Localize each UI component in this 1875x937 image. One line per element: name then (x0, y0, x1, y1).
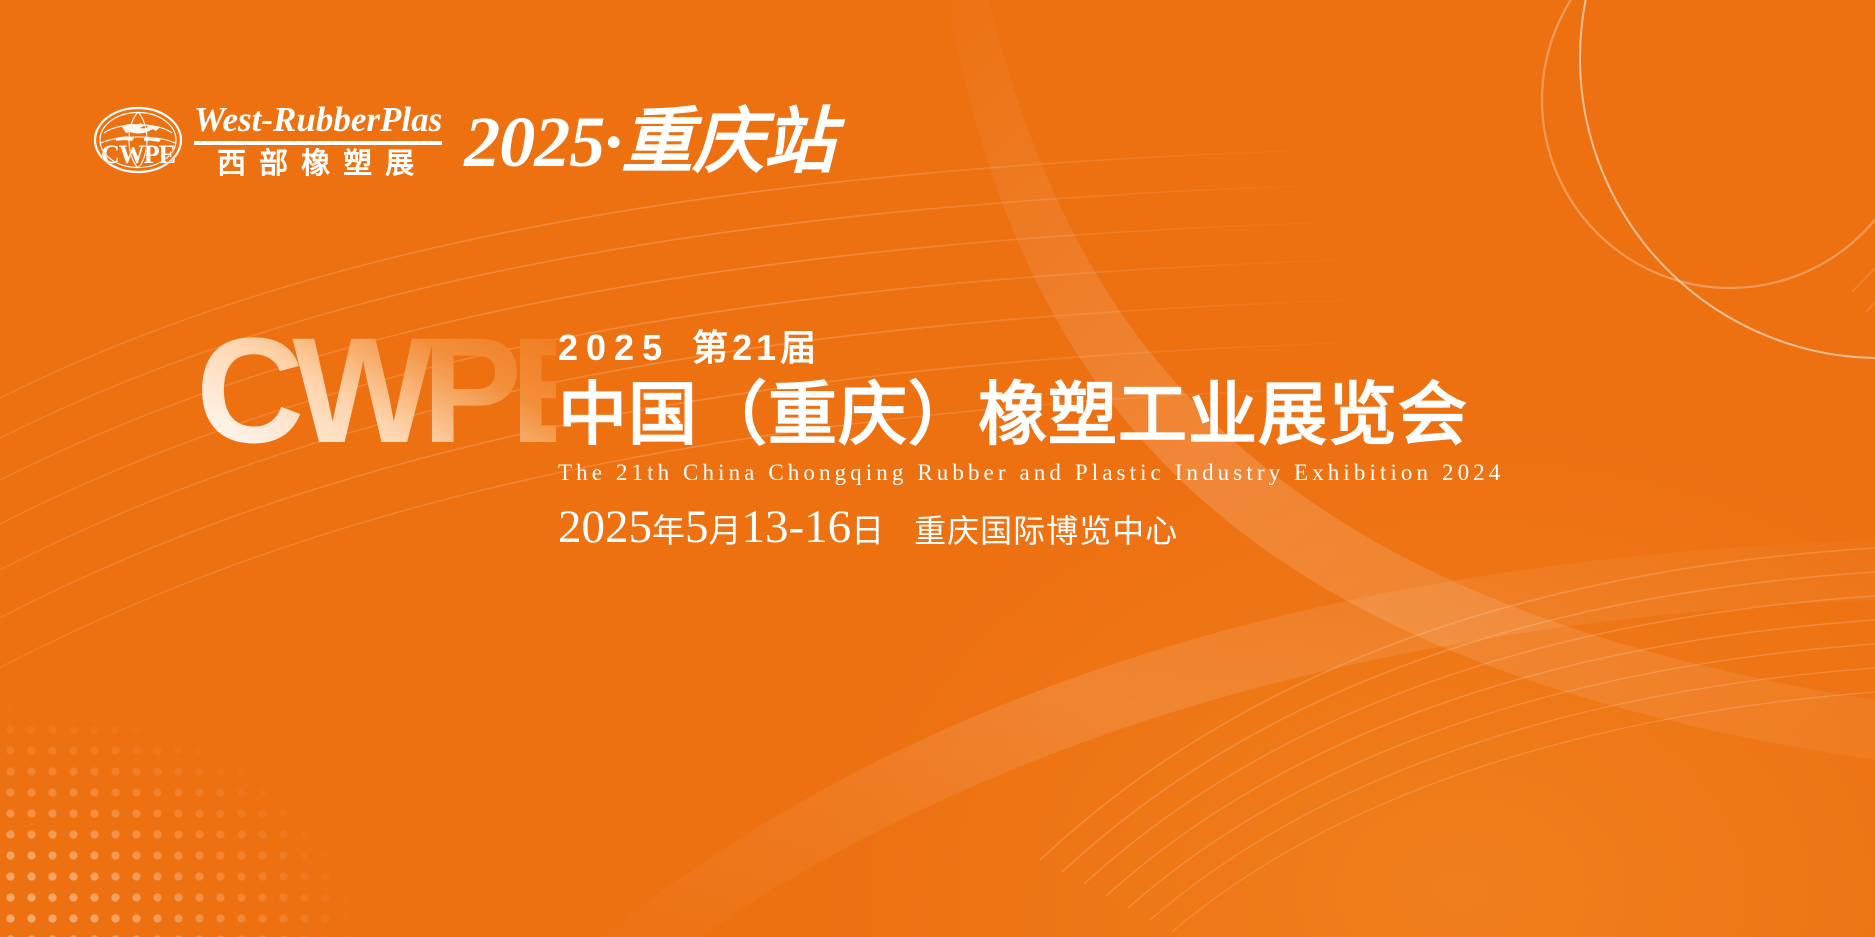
date-day-unit: 日 (851, 514, 884, 550)
diagonal-slivers (1852, 268, 1875, 312)
date-month: 5 (685, 501, 709, 553)
circle-outline-right (1580, 0, 1875, 358)
date-month-unit: 月 (709, 514, 742, 550)
exhibition-banner: CWPE West-RubberPlas 西部橡塑展 2025·重庆站 CWPE… (0, 0, 1875, 937)
kicker-edition: 第21届 (692, 327, 820, 368)
wordmark-divider (194, 141, 442, 145)
globe-emblem-icon: CWPE (92, 105, 184, 175)
page-subtitle-english: The 21th China Chongqing Rubber and Plas… (558, 460, 1808, 485)
brand-lockup: CWPE West-RubberPlas 西部橡塑展 2025·重庆站 (92, 100, 834, 179)
date-days: 13-16 (742, 501, 852, 553)
event-date: 2025年5月13-16日 (558, 504, 884, 551)
main-text-block: 2025第21届 中国（重庆）橡塑工业展览会 The 21th China Ch… (558, 330, 1808, 551)
event-meta-line: 2025年5月13-16日 重庆国际博览中心 (558, 504, 1808, 551)
date-year-unit: 年 (652, 514, 685, 550)
kicker-line: 2025第21届 (558, 330, 1808, 366)
event-venue: 重庆国际博览中心 (914, 515, 1178, 547)
top-right-circles (1542, 0, 1875, 358)
date-year: 2025 (558, 501, 652, 553)
brand-name-english: West-RubberPlas (194, 102, 442, 137)
brand-name-chinese: 西部橡塑展 (194, 150, 442, 179)
cwpe-logo-letters: CWPE (196, 320, 556, 460)
brand-wordmark: West-RubberPlas 西部橡塑展 (194, 100, 442, 179)
page-title: 中国（重庆）橡塑工业展览会 (558, 380, 1808, 450)
cwpe-logo-mark: CWPE (196, 320, 556, 460)
svg-text:CWPE: CWPE (101, 140, 176, 169)
kicker-year: 2025 (558, 327, 670, 368)
edition-title: 2025·重庆站 (464, 106, 834, 178)
